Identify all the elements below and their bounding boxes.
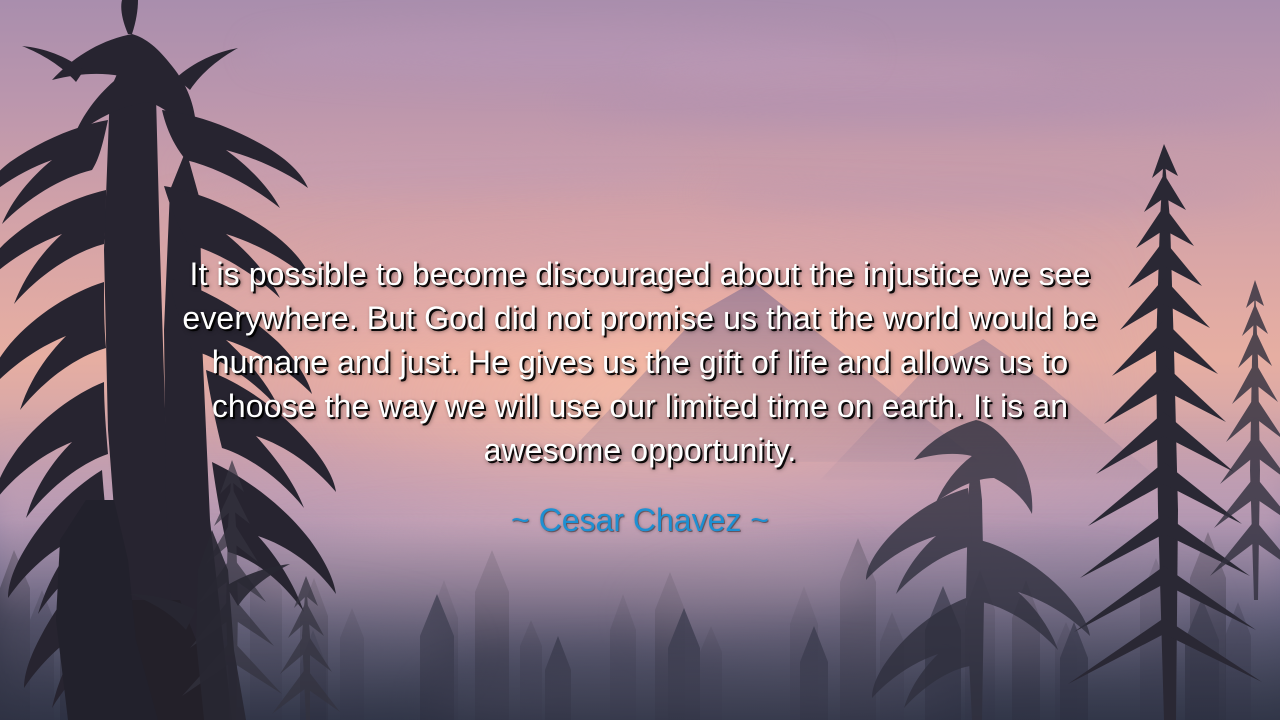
quote-line: awesome opportunity. — [120, 428, 1160, 472]
quote-line: It is possible to become discouraged abo… — [120, 252, 1160, 296]
cloud-streak — [560, 86, 1260, 124]
quote-line: everywhere. But God did not promise us t… — [120, 296, 1160, 340]
quote-attribution: ~ Cesar Chavez ~ — [60, 500, 1220, 540]
quote-line: humane and just. He gives us the gift of… — [120, 340, 1160, 384]
quote-block: It is possible to become discouraged abo… — [0, 252, 1280, 540]
cloud-streak — [640, 60, 1060, 86]
quote-text: It is possible to become discouraged abo… — [120, 252, 1160, 472]
quote-line: choose the way we will use our limited t… — [120, 384, 1160, 428]
quote-wallpaper: It is possible to become discouraged abo… — [0, 0, 1280, 720]
